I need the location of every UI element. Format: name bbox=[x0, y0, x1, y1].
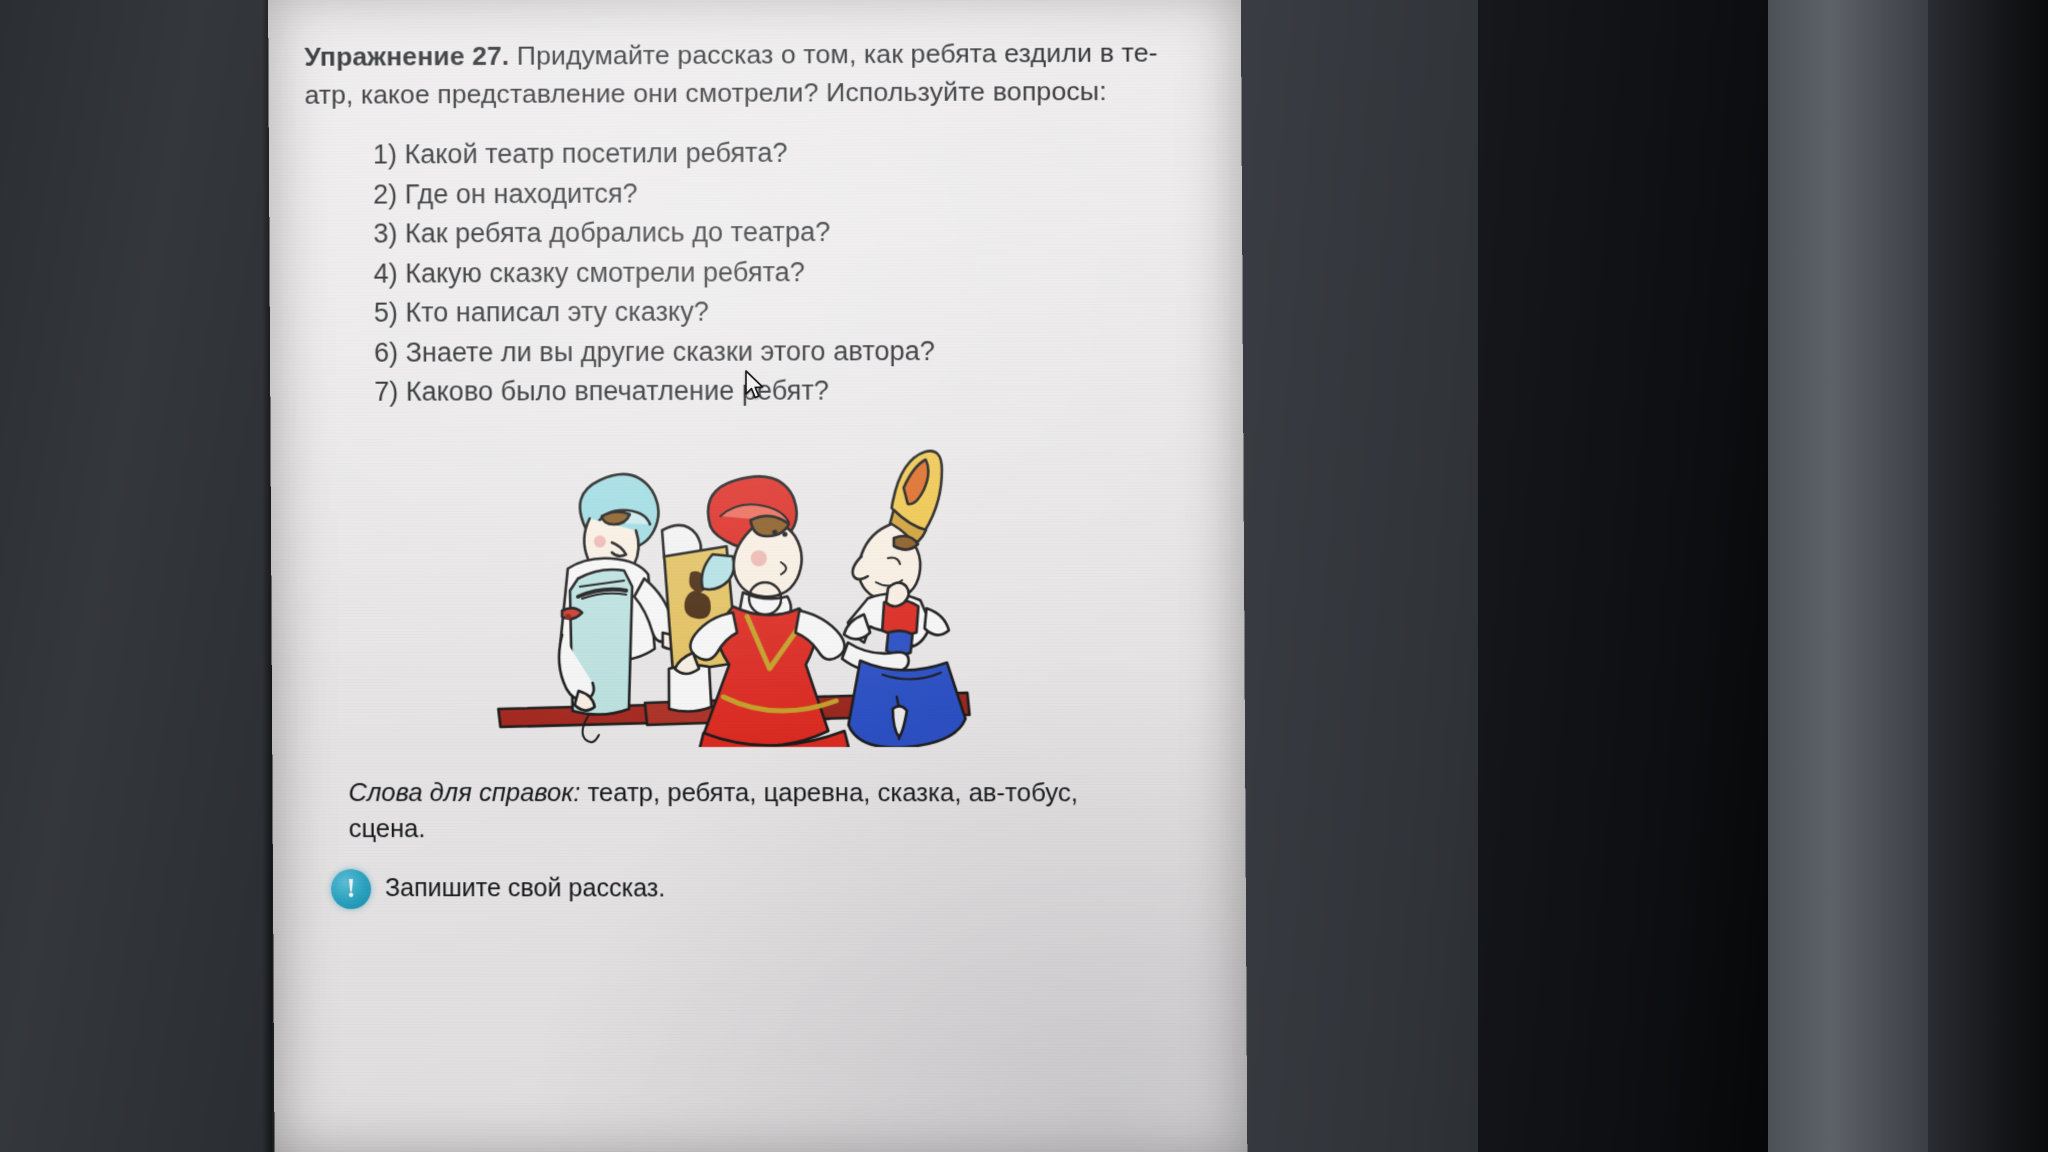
photo-of-monitor: Упражнение 27. Придумайте рассказ о том,… bbox=[0, 0, 2048, 1152]
note-row: ! Запишите свой рассказ. bbox=[309, 869, 1216, 910]
monitor-bezel-left bbox=[0, 0, 272, 1152]
textbook-page: Упражнение 27. Придумайте рассказ о том,… bbox=[304, 33, 1215, 910]
exercise-paragraph: Упражнение 27. Придумайте рассказ о том,… bbox=[304, 33, 1178, 114]
background-edge-strip bbox=[1928, 0, 2048, 1152]
illustration-container bbox=[307, 444, 1215, 746]
question-item-6: 6) Знаете ли вы другие сказки этого авто… bbox=[374, 331, 1213, 373]
exercise-number-label: Упражнение 27. bbox=[304, 41, 509, 72]
background-wall-strip bbox=[1768, 0, 1928, 1152]
question-item-4: 4) Какую сказку смотрели ребята? bbox=[374, 251, 1213, 294]
monitor-screen: Упражнение 27. Придумайте рассказ о том,… bbox=[268, 0, 1247, 1152]
question-item-5: 5) Кто написал эту сказку? bbox=[374, 291, 1213, 333]
background-dark-strip bbox=[1478, 0, 1768, 1152]
three-russian-folk-characters-illustration bbox=[493, 445, 1018, 747]
question-item-7: 7) Каково было впечатление ребят? bbox=[374, 370, 1213, 412]
question-item-2: 2) Где он находится? bbox=[373, 172, 1212, 215]
reference-words-label: Слова для справок: bbox=[348, 779, 580, 807]
question-item-3: 3) Как ребята добрались до театра? bbox=[373, 211, 1212, 254]
question-list: 1) Какой театр посетили ребята? 2) Где о… bbox=[305, 132, 1213, 413]
monitor-bezel-right bbox=[1228, 0, 2048, 1152]
exclamation-circle-icon: ! bbox=[331, 869, 371, 909]
question-item-1: 1) Какой театр посетили ребята? bbox=[373, 132, 1211, 175]
reference-words-paragraph: Слова для справок: театр, ребята, царевн… bbox=[308, 775, 1113, 848]
note-text: Запишите свой рассказ. bbox=[385, 874, 665, 903]
exclamation-glyph: ! bbox=[346, 875, 355, 902]
